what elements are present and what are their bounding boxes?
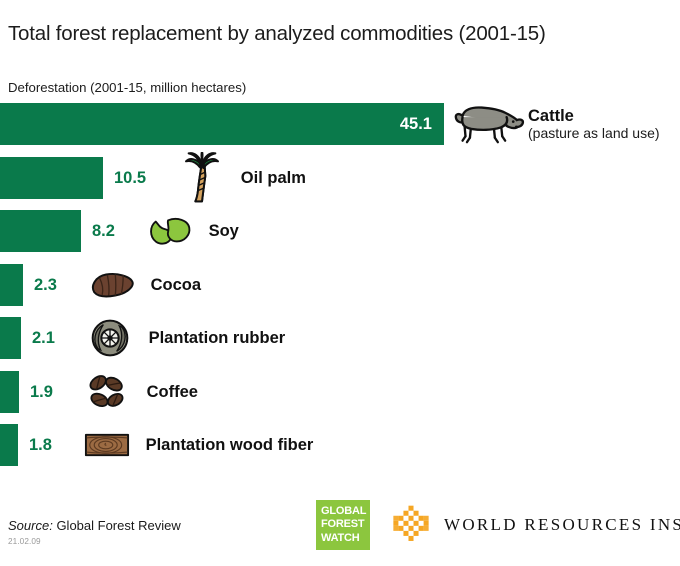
bar-row: 10.5 Oil palm xyxy=(0,157,680,199)
gfw-logo-line3: WATCH xyxy=(321,532,360,545)
bar xyxy=(0,424,18,466)
bar xyxy=(0,103,444,145)
source-line: Source: Global Forest Review xyxy=(8,518,181,533)
bar-value-label: 10.5 xyxy=(114,157,146,199)
date-stamp: 21.02.09 xyxy=(8,537,41,546)
palm-tree-icon xyxy=(165,157,239,199)
global-forest-watch-logo: GLOBAL FOREST WATCH xyxy=(316,500,370,550)
bar-value-label: 2.1 xyxy=(32,317,55,359)
bar xyxy=(0,264,23,306)
chart-title: Total forest replacement by analyzed com… xyxy=(8,22,546,46)
bar-category-label: Coffee xyxy=(147,371,198,413)
bar-category-sublabel: (pasture as land use) xyxy=(528,125,660,142)
coffee-beans-icon xyxy=(71,371,145,413)
bar-value-label: 8.2 xyxy=(92,210,115,252)
bar-value-label: 45.1 xyxy=(384,103,432,145)
bar xyxy=(0,371,19,413)
bar-category-name: Plantation wood fiber xyxy=(146,436,314,454)
wri-diamond-mark xyxy=(390,504,432,546)
rubber-tapping-icon xyxy=(73,317,147,359)
bar xyxy=(0,210,81,252)
bar xyxy=(0,157,103,199)
bar xyxy=(0,317,21,359)
bar-row: 2.1 Plantation rubber xyxy=(0,317,680,359)
bar-chart-plot: 45.1 Cattle(pasture as land use)10.5 xyxy=(0,103,680,481)
bar-category-name: Cocoa xyxy=(151,276,201,294)
bar-category-name: Plantation rubber xyxy=(149,329,286,347)
chart-footer: Source: Global Forest Review 21.02.09 GL… xyxy=(0,492,680,566)
wood-plank-icon xyxy=(70,424,144,466)
bar-category-label: Soy xyxy=(209,210,239,252)
bar-category-name: Cattle xyxy=(528,107,660,125)
gfw-logo-line2: FOREST xyxy=(321,518,364,531)
gfw-logo-line1: GLOBAL xyxy=(321,505,366,518)
cow-icon xyxy=(452,103,526,145)
bar-category-name: Coffee xyxy=(147,383,198,401)
bar-row: 2.3 Cocoa xyxy=(0,264,680,306)
source-label: Source: xyxy=(8,518,53,533)
bar-row: 1.8 Plantation wood fiber xyxy=(0,424,680,466)
wri-wordmark: WORLD RESOURCES INSTITUTE xyxy=(444,515,680,535)
bar-value-label: 1.9 xyxy=(30,371,53,413)
bar-category-label: Oil palm xyxy=(241,157,306,199)
axis-label: Deforestation (2001-15, million hectares… xyxy=(8,80,246,95)
bar-row: 1.9 Coffee xyxy=(0,371,680,413)
bar-category-label: Plantation wood fiber xyxy=(146,424,314,466)
source-value: Global Forest Review xyxy=(56,518,180,533)
world-resources-institute-logo: WORLD RESOURCES INSTITUTE xyxy=(390,502,680,548)
bar-category-label: Plantation rubber xyxy=(149,317,286,359)
bar-category-label: Cocoa xyxy=(151,264,201,306)
bar-category-name: Oil palm xyxy=(241,169,306,187)
bar-category-label: Cattle(pasture as land use) xyxy=(528,103,660,145)
cocoa-pod-icon xyxy=(75,264,149,306)
bar-row: 8.2 Soy xyxy=(0,210,680,252)
soybean-icon xyxy=(133,210,207,252)
bar-value-label: 2.3 xyxy=(34,264,57,306)
bar-value-label: 1.8 xyxy=(29,424,52,466)
bar-row: 45.1 Cattle(pasture as land use) xyxy=(0,103,680,145)
bar-category-name: Soy xyxy=(209,222,239,240)
